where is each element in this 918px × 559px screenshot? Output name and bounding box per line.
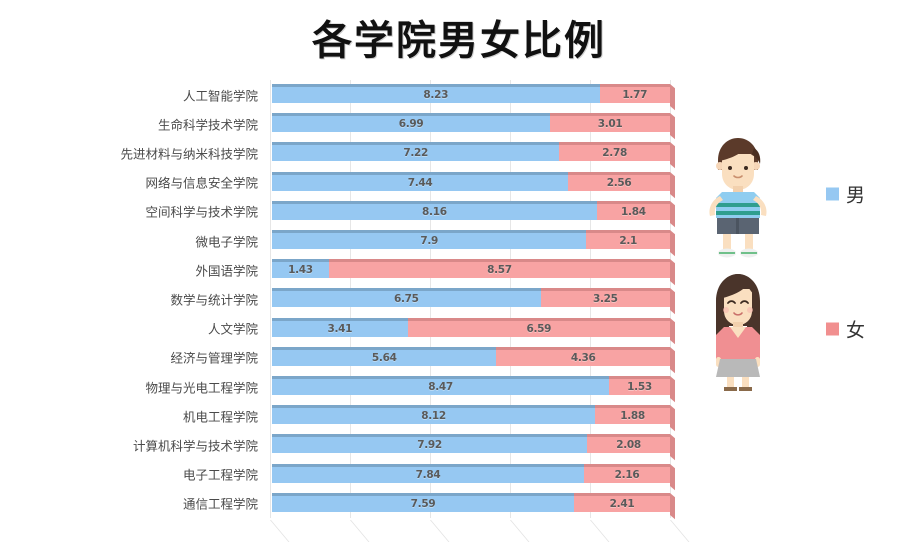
bar-segment-female[interactable]: 3.01 bbox=[550, 113, 670, 132]
category-label: 先进材料与纳米科技学院 bbox=[120, 143, 258, 162]
bar-segment-female[interactable]: 1.53 bbox=[609, 376, 670, 395]
bar-value-female: 1.77 bbox=[622, 89, 647, 101]
bar-value-female: 2.41 bbox=[610, 498, 635, 510]
stacked-bar[interactable]: 8.161.84 bbox=[272, 201, 670, 220]
bar-value-male: 8.12 bbox=[421, 410, 446, 422]
category-label: 生命科学技术学院 bbox=[158, 114, 258, 133]
bar-row[interactable]: 物理与光电工程学院8.471.53 bbox=[270, 372, 670, 401]
bar-row[interactable]: 网络与信息安全学院7.442.56 bbox=[270, 168, 670, 197]
category-label: 空间科学与技术学院 bbox=[145, 202, 258, 221]
bar-value-male: 7.9 bbox=[420, 235, 438, 247]
bar-segment-male[interactable]: 8.12 bbox=[272, 405, 595, 424]
bar-segment-female[interactable]: 1.88 bbox=[595, 405, 670, 424]
stacked-bar[interactable]: 8.121.88 bbox=[272, 405, 670, 424]
stacked-bar[interactable]: 1.438.57 bbox=[272, 259, 670, 278]
stacked-bar[interactable]: 7.592.41 bbox=[272, 493, 670, 512]
bar-segment-female[interactable]: 2.16 bbox=[584, 464, 670, 483]
bar-segment-male[interactable]: 7.92 bbox=[272, 434, 587, 453]
category-label: 通信工程学院 bbox=[183, 494, 258, 513]
bar-segment-female[interactable]: 2.56 bbox=[568, 172, 670, 191]
bar-value-male: 8.16 bbox=[422, 206, 447, 218]
legend-row-male[interactable]: 男 bbox=[688, 130, 903, 258]
bar-value-female: 3.01 bbox=[598, 118, 623, 130]
bar-value-female: 3.25 bbox=[593, 293, 618, 305]
bar-segment-male[interactable]: 3.41 bbox=[272, 318, 408, 337]
stacked-bar[interactable]: 8.471.53 bbox=[272, 376, 670, 395]
bar-value-female: 1.88 bbox=[620, 410, 645, 422]
category-label: 机电工程学院 bbox=[183, 406, 258, 425]
category-label: 物理与光电工程学院 bbox=[145, 377, 258, 396]
bar-segment-female[interactable]: 1.84 bbox=[597, 201, 670, 220]
category-label: 微电子学院 bbox=[195, 231, 258, 250]
chart-root: 各学院男女比例 人工智能学院8.231.77生命科学技术学院6.993.01先进… bbox=[0, 0, 918, 559]
bar-segment-female[interactable]: 2.08 bbox=[587, 434, 670, 453]
bar-segment-female[interactable]: 2.1 bbox=[586, 230, 670, 249]
page-title: 各学院男女比例 bbox=[0, 8, 918, 66]
bar-row[interactable]: 机电工程学院8.121.88 bbox=[270, 401, 670, 430]
bar-value-male: 6.99 bbox=[399, 118, 424, 130]
bar-value-female: 2.78 bbox=[602, 147, 627, 159]
bar-row[interactable]: 经济与管理学院5.644.36 bbox=[270, 343, 670, 372]
legend-swatch-male-icon bbox=[826, 188, 839, 201]
stacked-bar[interactable]: 3.416.59 bbox=[272, 318, 670, 337]
stacked-bar[interactable]: 7.842.16 bbox=[272, 464, 670, 483]
bar-value-female: 2.1 bbox=[619, 235, 637, 247]
bar-segment-female[interactable]: 2.78 bbox=[559, 142, 670, 161]
bar-segment-male[interactable]: 7.84 bbox=[272, 464, 584, 483]
legend-key-male[interactable]: 男 bbox=[826, 181, 865, 208]
stacked-bar[interactable]: 7.922.08 bbox=[272, 434, 670, 453]
bar-value-female: 2.56 bbox=[607, 177, 632, 189]
stacked-bar[interactable]: 7.92.1 bbox=[272, 230, 670, 249]
category-label: 数学与统计学院 bbox=[170, 289, 258, 308]
bar-segment-male[interactable]: 5.64 bbox=[272, 347, 496, 366]
bar-row[interactable]: 人工智能学院8.231.77 bbox=[270, 80, 670, 109]
stacked-bar[interactable]: 5.644.36 bbox=[272, 347, 670, 366]
bar-row[interactable]: 计算机科学与技术学院7.922.08 bbox=[270, 430, 670, 459]
bar-row[interactable]: 外国语学院1.438.57 bbox=[270, 255, 670, 284]
bar-segment-male[interactable]: 8.23 bbox=[272, 84, 600, 103]
legend: 男 bbox=[688, 130, 903, 420]
male-person-illustration bbox=[692, 130, 784, 258]
bar-row[interactable]: 数学与统计学院6.753.25 bbox=[270, 284, 670, 313]
bar-row[interactable]: 通信工程学院7.592.41 bbox=[270, 489, 670, 518]
bar-value-male: 7.59 bbox=[411, 498, 436, 510]
bar-value-female: 1.53 bbox=[627, 381, 652, 393]
legend-swatch-female-icon bbox=[826, 323, 839, 336]
legend-label-female: 女 bbox=[846, 316, 865, 343]
category-label: 外国语学院 bbox=[195, 260, 258, 279]
stacked-bar[interactable]: 6.993.01 bbox=[272, 113, 670, 132]
bar-value-male: 3.41 bbox=[327, 323, 352, 335]
category-label: 网络与信息安全学院 bbox=[145, 173, 258, 192]
female-person-illustration bbox=[692, 265, 784, 393]
legend-row-female[interactable]: 女 bbox=[688, 265, 903, 393]
bar-segment-female[interactable]: 8.57 bbox=[329, 259, 670, 278]
bar-rows: 人工智能学院8.231.77生命科学技术学院6.993.01先进材料与纳米科技学… bbox=[270, 80, 670, 528]
bar-value-male: 1.43 bbox=[288, 264, 313, 276]
bar-value-female: 2.16 bbox=[615, 469, 640, 481]
bar-segment-male[interactable]: 8.47 bbox=[272, 376, 609, 395]
bar-segment-male[interactable]: 7.22 bbox=[272, 142, 559, 161]
bar-segment-male[interactable]: 7.9 bbox=[272, 230, 586, 249]
bar-value-male: 5.64 bbox=[372, 352, 397, 364]
bar-row[interactable]: 微电子学院7.92.1 bbox=[270, 226, 670, 255]
bar-row[interactable]: 生命科学技术学院6.993.01 bbox=[270, 109, 670, 138]
stacked-bar[interactable]: 7.222.78 bbox=[272, 142, 670, 161]
legend-key-female[interactable]: 女 bbox=[826, 316, 865, 343]
bar-segment-female[interactable]: 2.41 bbox=[574, 493, 670, 512]
category-label: 人文学院 bbox=[208, 319, 258, 338]
bar-value-female: 4.36 bbox=[571, 352, 596, 364]
bar-row[interactable]: 先进材料与纳米科技学院7.222.78 bbox=[270, 138, 670, 167]
stacked-bar[interactable]: 7.442.56 bbox=[272, 172, 670, 191]
bar-segment-male[interactable]: 6.75 bbox=[272, 288, 541, 307]
bar-row[interactable]: 电子工程学院7.842.16 bbox=[270, 460, 670, 489]
bar-segment-female[interactable]: 3.25 bbox=[541, 288, 670, 307]
stacked-bar[interactable]: 8.231.77 bbox=[272, 84, 670, 103]
bar-segment-female[interactable]: 1.77 bbox=[600, 84, 670, 103]
bar-value-male: 7.84 bbox=[416, 469, 441, 481]
bar-value-male: 8.23 bbox=[423, 89, 448, 101]
stacked-bar[interactable]: 6.753.25 bbox=[272, 288, 670, 307]
bar-row[interactable]: 人文学院3.416.59 bbox=[270, 314, 670, 343]
bar-segment-female[interactable]: 4.36 bbox=[496, 347, 670, 366]
bar-value-female: 6.59 bbox=[526, 323, 551, 335]
bar-value-female: 2.08 bbox=[616, 439, 641, 451]
bar-segment-male[interactable]: 7.44 bbox=[272, 172, 568, 191]
plot-area: 人工智能学院8.231.77生命科学技术学院6.993.01先进材料与纳米科技学… bbox=[270, 80, 670, 528]
bar-segment-male[interactable]: 7.59 bbox=[272, 493, 574, 512]
category-label: 计算机科学与技术学院 bbox=[133, 435, 258, 454]
floor-tick bbox=[670, 520, 689, 542]
bar-value-male: 7.92 bbox=[417, 439, 442, 451]
bar-segment-male[interactable]: 6.99 bbox=[272, 113, 550, 132]
category-label: 电子工程学院 bbox=[183, 465, 258, 484]
bar-value-female: 8.57 bbox=[487, 264, 512, 276]
bar-segment-female[interactable]: 6.59 bbox=[408, 318, 670, 337]
legend-label-male: 男 bbox=[846, 181, 865, 208]
bar-row[interactable]: 空间科学与技术学院8.161.84 bbox=[270, 197, 670, 226]
bar-segment-male[interactable]: 8.16 bbox=[272, 201, 597, 220]
bar-value-male: 8.47 bbox=[428, 381, 453, 393]
bar-value-male: 6.75 bbox=[394, 293, 419, 305]
bar-value-female: 1.84 bbox=[621, 206, 646, 218]
category-label: 经济与管理学院 bbox=[170, 348, 258, 367]
bar-value-male: 7.44 bbox=[408, 177, 433, 189]
bar-value-male: 7.22 bbox=[403, 147, 428, 159]
category-label: 人工智能学院 bbox=[183, 85, 258, 104]
bar-segment-male[interactable]: 1.43 bbox=[272, 259, 329, 278]
